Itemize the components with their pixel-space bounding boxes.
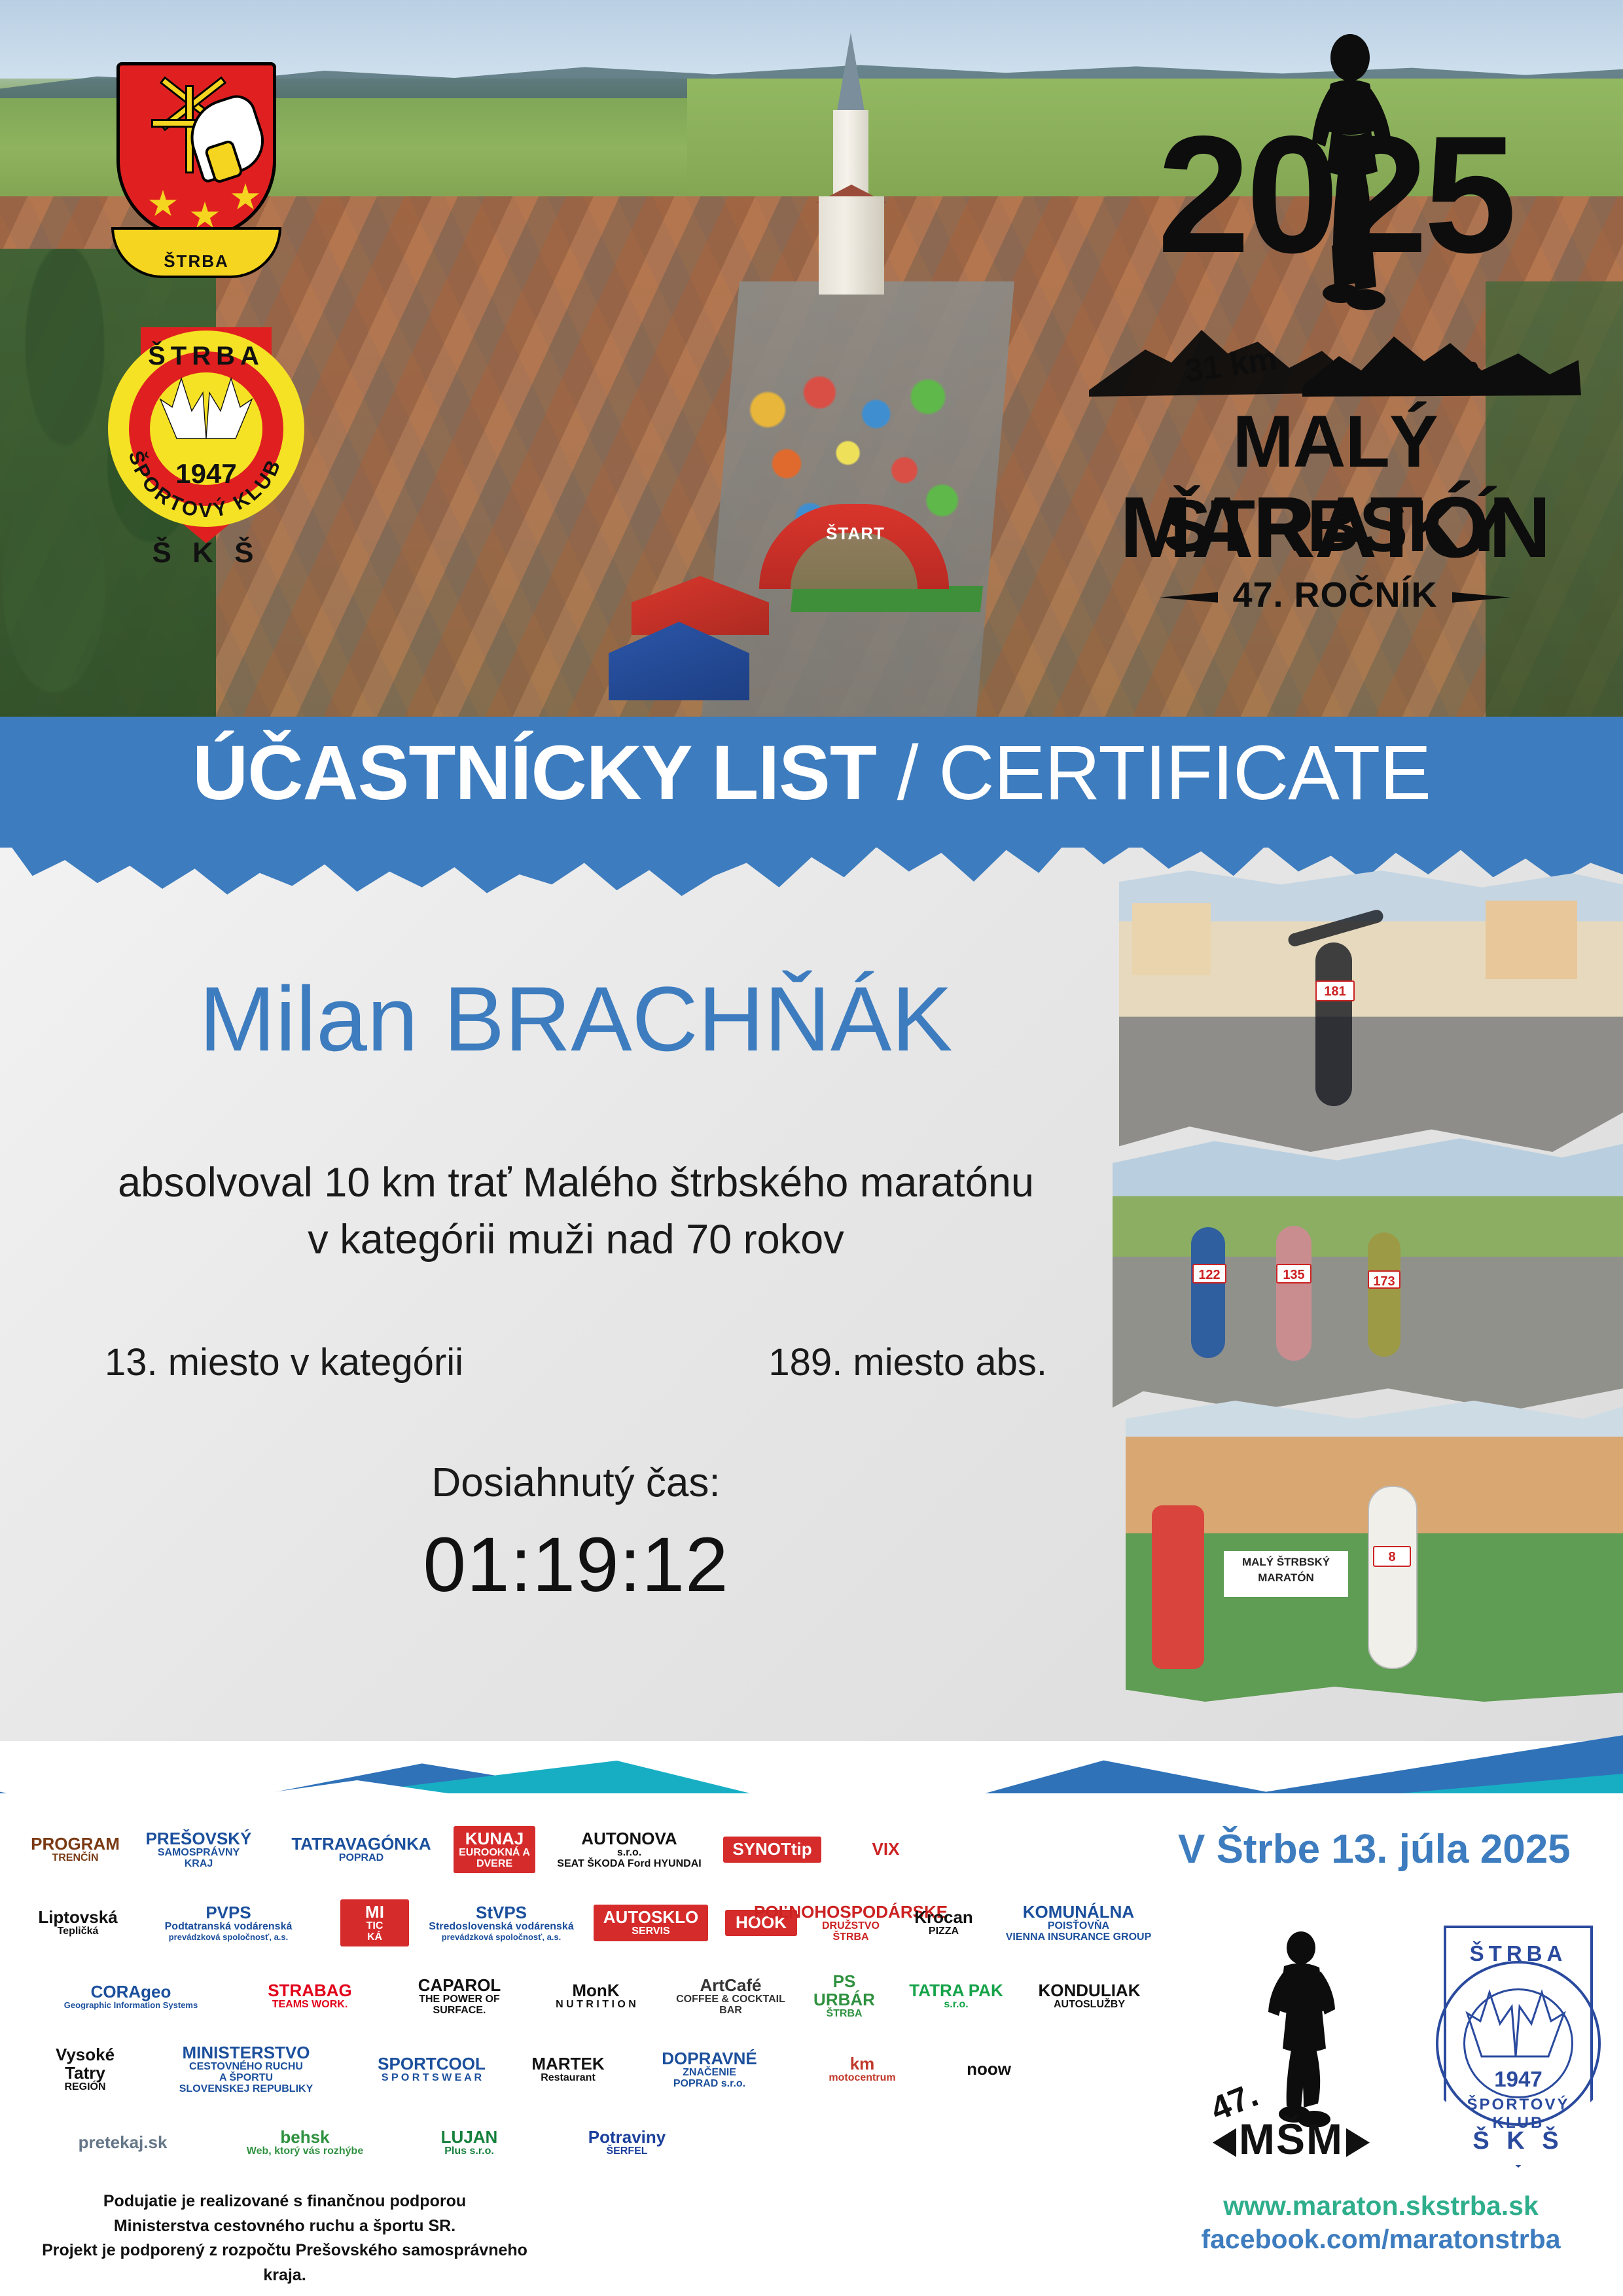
sponsor-logo-text: Liptovská [38, 1909, 117, 1926]
sponsor-logo-text: Web, ktorý vás rozhýbe [247, 2146, 363, 2157]
sponsor-logo-text: CAPAROL [418, 1977, 501, 1994]
strba-coat-of-arms: ŠTRBA [111, 56, 281, 285]
sponsor-logo-text: ZNAČENIE [683, 2068, 736, 2079]
sponsor-logo-text: ŠTRBA [832, 1932, 868, 1943]
sponsor-row-1: PROGRAMTRENČÍNPREŠOVSKÝSAMOSPRÁVNYKRAJTA… [39, 1813, 1165, 1886]
sponsor-logo: AUTONOVAs.r.o.SEAT ŠKODA Ford HYUNDAI [552, 1830, 706, 1870]
sponsor-logo: pretekaj.sk [39, 2134, 206, 2151]
sponsor-logo-text: prevádzková spoločnosť, a.s. [169, 1933, 289, 1942]
sponsor-logo: MITICKÁ [340, 1899, 409, 1947]
participant-description: absolvoval 10 km trať Malého štrbského m… [0, 1155, 1152, 1268]
sponsor-logo-text: SAMOSPRÁVNY [158, 1848, 240, 1859]
sponsor-logo-text: MI [365, 1903, 384, 1921]
place-absolute: 189. miesto abs. [768, 1340, 1047, 1384]
house [1486, 901, 1577, 979]
sponsor-logo: KOMUNÁLNAPOISŤOVŇAVIENNA INSURANCE GROUP [1000, 1903, 1157, 1943]
title-bold: ÚČASTNÍCKY LIST [192, 730, 876, 816]
page-title: ÚČASTNÍCKY LIST / CERTIFICATE [0, 734, 1623, 812]
coa-star-icon [149, 190, 177, 219]
photo-collage: 181 122 135 173 8 MALÝ ŠTRBSKÝ MARATÓN [1113, 864, 1623, 1705]
church [815, 33, 887, 295]
figure [1191, 1227, 1225, 1358]
photo-winner-finish: 8 MALÝ ŠTRBSKÝ MARATÓN [1126, 1401, 1623, 1702]
sks-stamp: ŠTRBA 1947 ŠPORTOVÝ KLUB Š K Š [1420, 1918, 1616, 2179]
sponsor-logo-text: PVPS [205, 1904, 251, 1922]
title-separator: / [876, 730, 938, 816]
sponsor-logo: SYNOTtip [723, 1837, 821, 1862]
sponsor-logo-text: behsk [280, 2128, 329, 2146]
sponsor-logo-text: Plus s.r.o. [444, 2146, 494, 2157]
certificate-date: V Štrbe 13. júla 2025 [1178, 1826, 1597, 1873]
sponsor-logo-text: THE POWER OF SURFACE. [397, 1994, 522, 2017]
sponsor-logo-text: KRAJ [185, 1859, 213, 1870]
sponsor-logo-text: ŠERFEL [606, 2146, 647, 2157]
stamp-initials: Š K Š [1444, 2127, 1593, 2155]
bib-number: 181 [1315, 980, 1355, 1001]
sponsor-logo: ArtCaféCOFFEE & COCKTAIL BAR [670, 1977, 791, 2017]
figure [1368, 1232, 1400, 1357]
sponsor-logo-text: MINISTERSTVO [182, 2044, 310, 2062]
sponsor-logo: kmmotocentrum [802, 2055, 923, 2084]
sponsor-logo: Vysoké TatryREGIÓN [39, 2046, 131, 2092]
sponsor-logo-text: km [850, 2055, 875, 2073]
folk-dancer [1152, 1505, 1204, 1669]
church-spire [837, 33, 865, 111]
title-light: CERTIFICATE [938, 730, 1431, 816]
sponsor-logo-text: PS URBÁR [808, 1973, 880, 2009]
sponsor-logo-text: VIX [872, 1840, 900, 1858]
coa-star-icon [190, 202, 219, 230]
sponsor-logo-text: CESTOVNÉHO RUCHU [189, 2062, 303, 2073]
participant-name: Milan BRACHŇÁK [0, 969, 1152, 1069]
bib-number: 135 [1276, 1264, 1311, 1283]
disclaimer-line-1: Podujatie je realizované s finančnou pod… [39, 2189, 530, 2214]
sponsor-logo-text: KOMUNÁLNA [1023, 1903, 1134, 1921]
coa-star-icon [231, 183, 260, 212]
certificate-content: Milan BRACHŇÁK absolvoval 10 km trať Mal… [0, 903, 1152, 1609]
sponsor-logo: LUJANPlus s.r.o. [404, 2128, 535, 2157]
sponsor-logo: MARTEKRestaurant [519, 2055, 617, 2084]
sponsor-logo-text: Vysoké Tatry [39, 2046, 131, 2082]
sponsor-logo-text: LUJAN [441, 2128, 498, 2146]
sponsor-logo-text: Krocan [914, 1909, 973, 1926]
sponsor-logo-text: POPRAD [339, 1853, 383, 1864]
sponsor-logo-text: SEAT ŠKODA Ford HYUNDAI [557, 1859, 701, 1870]
time-value: 01:19:12 [0, 1520, 1152, 1609]
sponsor-logo: StVPSStredoslovenská vodárenskáprevádzko… [426, 1904, 577, 1942]
sponsor-logo-text: A ŠPORTU [219, 2073, 273, 2084]
church-nave [819, 196, 884, 295]
sponsor-logo: KONDULIAKAUTOSLUŽBY [1032, 1982, 1147, 2011]
sponsor-logo: behskWeb, ktorý vás rozhýbe [223, 2128, 387, 2157]
sponsor-logo-text: PIZZA [929, 1926, 959, 1937]
sponsor-logo-text: MARTEK [531, 2055, 604, 2073]
sponsor-logo-text: Podtatranská vodárenská [165, 1922, 293, 1933]
coa-banner-text: ŠTRBA [164, 251, 229, 272]
sponsor-logo-text: DRUŽSTVO [822, 1921, 880, 1932]
msm-abbreviation: MŠM [1209, 2114, 1373, 2164]
bib-number: 122 [1192, 1264, 1226, 1283]
stamp-year: 1947 [1463, 2067, 1573, 2092]
sks-club-emblem: ŠTRBA ŠPORTOVÝ KLUB 1947 Š K Š [101, 321, 330, 596]
disclaimer-line-2: Ministerstva cestovného ruchu a športu S… [39, 2214, 530, 2239]
sponsor-logo-text: POPRAD s.r.o. [673, 2079, 745, 2090]
msm-runner-icon [1250, 1931, 1348, 2127]
stamp-peaks-icon [1436, 1983, 1601, 2062]
marathon-logo: 2025 31 km 10 km MALÝ ŠTRBSKÝ MARATÓN 47… [1060, 26, 1610, 615]
sponsor-logo-text: KONDULIAK [1039, 1982, 1141, 2000]
sponsor-logo-text: TRENČÍN [52, 1853, 98, 1864]
sponsor-logo-text: N U T R I T I O N [556, 2000, 636, 2011]
facebook-url[interactable]: facebook.com/maratonstrba [1152, 2223, 1610, 2256]
sponsor-logo-text: SYNOTtip [732, 1840, 811, 1858]
funding-disclaimer: Podujatie je realizované s finančnou pod… [39, 2189, 530, 2287]
logo-edition: 47. ROČNÍK [1073, 575, 1597, 615]
figure [1315, 942, 1352, 1106]
sponsor-logo-text: s.r.o. [944, 2000, 968, 2011]
msm-logo: 47. MŠM [1204, 1918, 1387, 2179]
time-label: Dosiahnutý čas: [0, 1460, 1152, 1506]
description-line-2: v kategórii muži nad 70 rokov [0, 1211, 1152, 1268]
sponsor-logo: AUTOSKLOSERVIS [594, 1905, 708, 1941]
sks-arc-text: ŠPORTOVÝ KLUB [108, 331, 304, 527]
sponsor-row-5: pretekaj.skbehskWeb, ktorý vás rozhýbeLU… [39, 2106, 1165, 2179]
photo-runners-group: 122 135 173 [1113, 1136, 1623, 1410]
sponsor-logo: CORAgeoGeographic Information Systems [39, 1983, 223, 2010]
description-line-1: absolvoval 10 km trať Malého štrbského m… [0, 1155, 1152, 1211]
sponsor-logo: VIX [838, 1840, 933, 1858]
sponsor-logo-text: noow [967, 2060, 1011, 2078]
coa-shield [116, 62, 276, 239]
sponsor-row-2: LiptovskáTepličkáPVPSPodtatranská vodáre… [39, 1886, 1165, 1960]
sponsor-logo-text: Potraviny [588, 2128, 666, 2146]
sponsor-logo-text: KUNAJ [465, 1830, 524, 1848]
sponsor-grid: PROGRAMTRENČÍNPREŠOVSKÝSAMOSPRÁVNYKRAJTA… [39, 1813, 1165, 2179]
sponsor-logo-text: KÁ [367, 1932, 382, 1943]
sponsor-logo: MonKN U T R I T I O N [539, 1982, 653, 2011]
sponsor-logo: KUNAJEUROOKNÁ A DVERE [454, 1826, 535, 1874]
start-arch-label: ŠTART [806, 524, 904, 544]
website-url[interactable]: www.maraton.skstrba.sk [1152, 2189, 1610, 2223]
sponsor-logo-text: AUTOSKLO [603, 1909, 698, 1926]
bib-number: 8 [1373, 1546, 1411, 1567]
sponsor-logo: PVPSPodtatranská vodárenskáprevádzková s… [134, 1904, 323, 1942]
coa-banner: ŠTRBA [111, 227, 281, 278]
sponsor-logo-text: TATRAVAGÓNKA [291, 1835, 431, 1853]
sponsor-logo-text: Restaurant [541, 2073, 596, 2084]
sponsor-logo: noow [940, 2060, 1038, 2078]
place-in-category: 13. miesto v kategórii [105, 1340, 463, 1384]
sponsor-logo-text: POISŤOVŇA [1048, 1921, 1109, 1932]
sponsor-logo: KrocanPIZZA [904, 1909, 983, 1937]
sponsor-logo-text: COFFEE & COCKTAIL BAR [670, 1994, 791, 2017]
sponsor-logo: POĽNOHOSPODÁRSKEDRUŽSTVOŠTRBA [814, 1903, 887, 1943]
finish-carpet [791, 586, 983, 612]
sks-initials: Š K Š [141, 537, 272, 569]
sponsor-logo-text: Geographic Information Systems [64, 2001, 198, 2010]
sponsor-logo-text: PROGRAM [31, 1835, 120, 1853]
sponsor-logo: PROGRAMTRENČÍN [39, 1835, 111, 1864]
sponsor-logo: MINISTERSTVOCESTOVNÉHO RUCHUA ŠPORTUSLOV… [148, 2044, 344, 2095]
sponsor-logo-text: SLOVENSKEJ REPUBLIKY [179, 2084, 313, 2095]
bib-number: 173 [1368, 1270, 1400, 1289]
sponsor-logo: PS URBÁRŠTRBA [808, 1973, 880, 2019]
sponsor-logo-text: s.r.o. [617, 1848, 641, 1859]
sponsor-logo: PotravinyŠERFEL [552, 2128, 702, 2157]
sponsor-logo-text: motocentrum [829, 2073, 895, 2084]
sponsor-logo-text: SPORTCOOL [378, 2055, 486, 2073]
sponsor-logo-text: VIENNA INSURANCE GROUP [1006, 1932, 1152, 1943]
sponsor-logo-text: TIC [366, 1921, 383, 1932]
sponsor-logo: PREŠOVSKÝSAMOSPRÁVNYKRAJ [128, 1830, 269, 1870]
sponsor-logo-text: ŠTRBA [826, 2009, 862, 2020]
sponsor-logo: LiptovskáTepličká [39, 1909, 116, 1937]
sponsor-logo-text: PREŠOVSKÝ [146, 1830, 252, 1848]
sponsor-logo-text: MonK [572, 1982, 619, 2000]
sponsor-logo: STRABAGTEAMS WORK. [240, 1982, 380, 2011]
sponsor-logo-text: TATRA PAK [909, 1982, 1003, 2000]
sponsor-logo-text: CORAgeo [91, 1983, 171, 2001]
sks-year: 1947 [150, 458, 262, 490]
sponsor-logo-text: REGIÓN [64, 2082, 105, 2093]
sponsor-logo-text: pretekaj.sk [79, 2134, 168, 2151]
sponsor-logo-text: Stredoslovenská vodárenská [429, 1922, 573, 1933]
sponsor-logo: TATRAVAGÓNKAPOPRAD [286, 1835, 437, 1864]
sponsor-logo-text: AUTOSLUŽBY [1054, 2000, 1125, 2011]
sponsor-row-4: Vysoké TatryREGIÓNMINISTERSTVOCESTOVNÉHO… [39, 2033, 1165, 2106]
sponsor-logo: CAPAROLTHE POWER OF SURFACE. [397, 1977, 522, 2017]
sponsor-logo-text: EUROOKNÁ A DVERE [459, 1848, 530, 1870]
sponsor-logo-text: AUTONOVA [581, 1830, 677, 1848]
sponsor-logo: DOPRAVNÉZNAČENIEPOPRAD s.r.o. [634, 2050, 785, 2090]
figure [1368, 1486, 1418, 1669]
placement-row: 13. miesto v kategórii 189. miesto abs. [0, 1340, 1152, 1384]
sponsor-logo-text: StVPS [476, 1904, 527, 1922]
sponsor-logo-text: ArtCafé [700, 1977, 762, 1994]
sponsor-logo-text: S P O R T S W E A R [382, 2073, 482, 2084]
disclaimer-line-3: Projekt je podporený z rozpočtu Prešovsk… [39, 2238, 530, 2287]
contact-urls: www.maraton.skstrba.sk facebook.com/mara… [1152, 2189, 1610, 2257]
figure [1276, 1226, 1311, 1361]
sponsor-logo-text: STRABAG [268, 1982, 352, 2000]
sponsor-logo-text: SERVIS [632, 1926, 669, 1937]
sponsor-row-3: CORAgeoGeographic Information SystemsSTR… [39, 1960, 1165, 2033]
finish-banner: MALÝ ŠTRBSKÝ MARATÓN [1224, 1551, 1348, 1597]
sponsor-logo-text: prevádzková spoločnosť, a.s. [442, 1933, 562, 1942]
logo-line2: MARATÓN [1073, 478, 1597, 577]
photo-runner-finish: 181 [1119, 870, 1623, 1152]
runner-silhouette-icon [1293, 33, 1407, 334]
stamp-top-text: ŠTRBA [1444, 1941, 1593, 1966]
sponsor-logo-text: DOPRAVNÉ [662, 2050, 757, 2068]
sponsor-logo: TATRA PAKs.r.o. [897, 1982, 1015, 2011]
sponsor-logo: SPORTCOOLS P O R T S W E A R [361, 2055, 502, 2084]
sponsor-logo-text: TEAMS WORK. [272, 2000, 348, 2011]
house [1132, 903, 1211, 975]
sponsor-logo-text: Tepličká [58, 1926, 99, 1937]
